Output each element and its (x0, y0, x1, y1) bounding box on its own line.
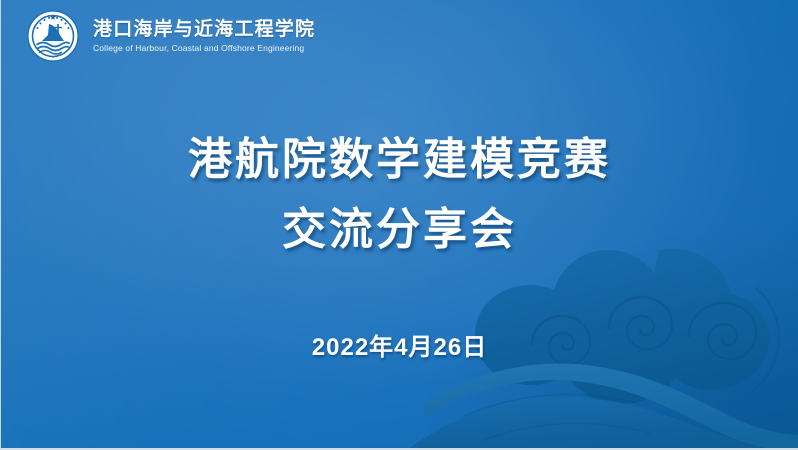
slide-title-block: 港航院数学建模竞赛 交流分享会 (1, 138, 798, 252)
institution-name-en: College of Harbour, Coastal and Offshore… (93, 43, 315, 54)
slide-header: 港口海岸与近海工程学院 College of Harbour, Coastal … (1, 0, 798, 72)
slide-title-line-2: 交流分享会 (1, 208, 798, 252)
slide-title-line-1: 港航院数学建模竞赛 (1, 138, 798, 182)
slide-date: 2022年4月26日 (1, 327, 798, 362)
presentation-slide: 港口海岸与近海工程学院 College of Harbour, Coastal … (0, 0, 798, 450)
institution-name-block: 港口海岸与近海工程学院 College of Harbour, Coastal … (93, 19, 315, 53)
institution-name-cn: 港口海岸与近海工程学院 (93, 19, 315, 41)
college-seal-ship-waves-icon (27, 10, 79, 62)
